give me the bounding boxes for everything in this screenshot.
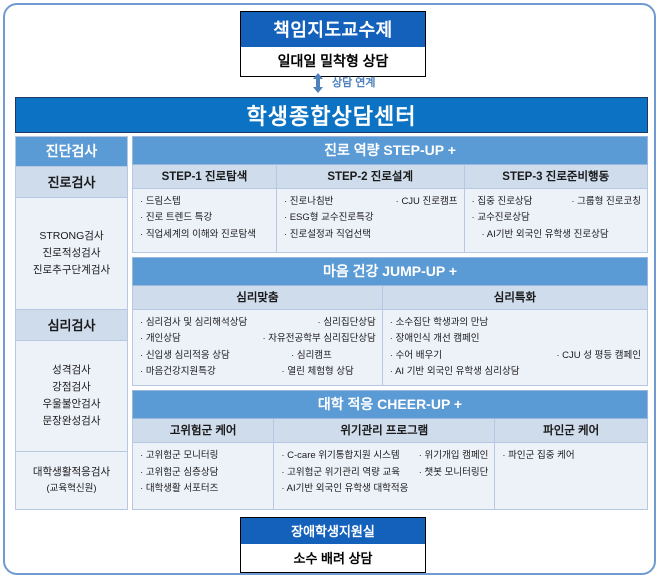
list-item-row: AI기반 외국인 유학생 대학적응 bbox=[281, 481, 488, 497]
column-items: C-care 위기통합지원 시스템위기개입 캠페인 고위험군 위기관리 역량 교… bbox=[274, 443, 494, 509]
column-items: 심리검사 및 심리해석상담심리집단상담 개인상담자유전공학부 심리집단상담 신입… bbox=[133, 310, 382, 385]
column-items: 고위험군 모니터링 고위험군 심층상담 대학생활 서포터즈 bbox=[133, 443, 273, 509]
column-header: 위기관리 프로그램 bbox=[274, 419, 494, 443]
block-title-step-up: 진로 역량 STEP-UP + bbox=[132, 136, 648, 165]
list-item: 개인상담 bbox=[140, 331, 181, 347]
list-item: 드림스텝 bbox=[140, 194, 181, 210]
list-item-note: (교육혁신원) bbox=[46, 481, 96, 496]
list-item: 신입생 심리적응 상담 bbox=[140, 348, 230, 364]
list-item: 대학생활 서포터즈 bbox=[140, 481, 218, 497]
bottom-box-header: 장애학생지원실 bbox=[241, 518, 425, 544]
list-item: 위기개입 캠페인 bbox=[411, 448, 489, 464]
right-column-programs: 진로 역량 STEP-UP + STEP-1 진로탐색 드림스텝 진로 트렌드 … bbox=[132, 136, 648, 510]
list-item-row: AI 기반 외국인 유학생 심리상담 bbox=[390, 364, 641, 380]
list-item-row: C-care 위기통합지원 시스템위기개입 캠페인 bbox=[281, 448, 488, 464]
connector-label: 상담 연계 bbox=[332, 74, 376, 90]
left-group-title-career: 진로검사 bbox=[15, 167, 128, 198]
block-cheer-up: 대학 적응 CHEER-UP + 고위험군 케어 고위험군 모니터링 고위험군 … bbox=[132, 390, 648, 510]
center-title: 학생종합상담센터 bbox=[15, 97, 648, 133]
list-item: 교수진로상담 bbox=[472, 210, 530, 226]
top-box-responsible-professor: 책임지도교수제 일대일 밀착형 상담 bbox=[240, 11, 426, 77]
list-item: 대학생활적응검사 bbox=[33, 464, 110, 481]
list-item-row: 진로나침반CJU 진로캠프 bbox=[284, 194, 458, 210]
list-item: 성격검사 bbox=[52, 362, 91, 379]
bottom-box-disability-support: 장애학생지원실 소수 배려 상담 bbox=[240, 517, 426, 573]
list-item: C-care 위기통합지원 시스템 bbox=[281, 448, 399, 464]
bottom-box-body: 소수 배려 상담 bbox=[241, 544, 425, 572]
block-columns-step-up: STEP-1 진로탐색 드림스텝 진로 트렌드 특강 직업세계의 이해와 진로탐… bbox=[132, 165, 648, 253]
column-step-2: STEP-2 진로설계 진로나침반CJU 진로캠프 ESG형 교수진로특강 진로… bbox=[277, 165, 465, 252]
list-item: 고위험군 모니터링 bbox=[140, 448, 218, 464]
block-jump-up: 마음 건강 JUMP-UP + 심리맞춤 심리검사 및 심리해석상담심리집단상담… bbox=[132, 257, 648, 386]
list-item: AI기반 외국인 유학생 대학적응 bbox=[281, 481, 408, 497]
block-columns-cheer-up: 고위험군 케어 고위험군 모니터링 고위험군 심층상담 대학생활 서포터즈 위기… bbox=[132, 419, 648, 510]
connector-group: 상담 연계 bbox=[240, 72, 426, 94]
column-psych-special: 심리특화 소수집단 학생과의 만남 장애인식 개선 캠페인 수어 배우기CJU … bbox=[383, 286, 647, 385]
column-header: STEP-2 진로설계 bbox=[277, 165, 464, 189]
column-header: 심리맞춤 bbox=[133, 286, 382, 310]
column-crisis-management: 위기관리 프로그램 C-care 위기통합지원 시스템위기개입 캠페인 고위험군… bbox=[274, 419, 495, 509]
column-items: 집중 진로상담그룹형 진로코칭 교수진로상담 AI기반 외국인 유학생 진로상담 bbox=[465, 189, 647, 252]
list-item: 소수집단 학생과의 만남 bbox=[390, 315, 489, 331]
list-item: AI 기반 외국인 유학생 심리상담 bbox=[390, 364, 520, 380]
column-header: 심리특화 bbox=[383, 286, 647, 310]
left-footer-items: 대학생활적응검사 (교육혁신원) bbox=[15, 452, 128, 510]
column-items: 파인군 집중 케어 bbox=[495, 443, 647, 509]
block-title-cheer-up: 대학 적응 CHEER-UP + bbox=[132, 390, 648, 419]
list-item: 진로나침반 bbox=[284, 194, 334, 210]
list-item-row: 장애인식 개선 캠페인 bbox=[390, 331, 641, 347]
list-item-row: 소수집단 학생과의 만남 bbox=[390, 315, 641, 331]
list-item: 심리검사 및 심리해석상담 bbox=[140, 315, 247, 331]
list-item-row: 교수진로상담 bbox=[472, 210, 641, 226]
list-item: 진로설정과 직업선택 bbox=[284, 227, 371, 243]
list-item: 마음건강지원특강 bbox=[140, 364, 216, 380]
left-group-items-career: STRONG검사 진로적성검사 진로추구단계검사 bbox=[15, 198, 128, 310]
double-arrow-vertical-icon bbox=[312, 73, 324, 93]
left-group-items-psych: 성격검사 강점검사 우울불안검사 문장완성검사 bbox=[15, 341, 128, 453]
column-items: 소수집단 학생과의 만남 장애인식 개선 캠페인 수어 배우기CJU 성 평등 … bbox=[383, 310, 647, 385]
list-item-row: ESG형 교수진로특강 bbox=[284, 210, 458, 226]
column-header: STEP-3 진로준비행동 bbox=[465, 165, 647, 189]
list-item: 우울불안검사 bbox=[43, 396, 101, 413]
list-item: 장애인식 개선 캠페인 bbox=[390, 331, 480, 347]
list-item-row: 직업세계의 이해와 진로탐색 bbox=[140, 227, 270, 243]
list-item: CJU 성 평등 캠페인 bbox=[548, 348, 641, 364]
list-item-row: 고위험군 모니터링 bbox=[140, 448, 267, 464]
list-item-row: 집중 진로상담그룹형 진로코칭 bbox=[472, 194, 641, 210]
list-item-row: 파인군 집중 케어 bbox=[502, 448, 641, 464]
block-columns-jump-up: 심리맞춤 심리검사 및 심리해석상담심리집단상담 개인상담자유전공학부 심리집단… bbox=[132, 286, 648, 386]
list-item-row: 개인상담자유전공학부 심리집단상담 bbox=[140, 331, 376, 347]
column-step-3: STEP-3 진로준비행동 집중 진로상담그룹형 진로코칭 교수진로상담 AI기… bbox=[465, 165, 647, 252]
list-item: 진로추구단계검사 bbox=[33, 262, 110, 279]
list-item: CJU 진로캠프 bbox=[388, 194, 458, 210]
list-item: 열린 체험형 상담 bbox=[274, 364, 376, 380]
list-item: 자유전공학부 심리집단상담 bbox=[254, 331, 375, 347]
list-item: 심리집단상담 bbox=[310, 315, 376, 331]
list-item-row: 신입생 심리적응 상담심리캠프 bbox=[140, 348, 376, 364]
column-high-risk-care: 고위험군 케어 고위험군 모니터링 고위험군 심층상담 대학생활 서포터즈 bbox=[133, 419, 274, 509]
list-item-row: 심리검사 및 심리해석상담심리집단상담 bbox=[140, 315, 376, 331]
left-column-diagnostic-tests: 진단검사 진로검사 STRONG검사 진로적성검사 진로추구단계검사 심리검사 … bbox=[15, 136, 128, 510]
list-item: STRONG검사 bbox=[39, 228, 103, 245]
list-item-row: 대학생활 서포터즈 bbox=[140, 481, 267, 497]
left-column-header: 진단검사 bbox=[15, 136, 128, 167]
main-body: 진단검사 진로검사 STRONG검사 진로적성검사 진로추구단계검사 심리검사 … bbox=[15, 136, 648, 510]
list-item: 그룹형 진로코칭 bbox=[563, 194, 641, 210]
list-item-row: 진로설정과 직업선택 bbox=[284, 227, 458, 243]
list-item: 직업세계의 이해와 진로탐색 bbox=[140, 227, 256, 243]
list-item: 수어 배우기 bbox=[390, 348, 442, 364]
list-item: 집중 진로상담 bbox=[472, 194, 533, 210]
column-header: 고위험군 케어 bbox=[133, 419, 273, 443]
list-item: 챗봇 모니터링단 bbox=[411, 465, 489, 481]
list-item-row: 고위험군 심층상담 bbox=[140, 465, 267, 481]
list-item: 진로 트렌드 특강 bbox=[140, 210, 212, 226]
column-step-1: STEP-1 진로탐색 드림스텝 진로 트렌드 특강 직업세계의 이해와 진로탐… bbox=[133, 165, 277, 252]
list-item-row: 고위험군 위기관리 역량 교육챗봇 모니터링단 bbox=[281, 465, 488, 481]
list-item: 강점검사 bbox=[52, 379, 91, 396]
list-item-row: 수어 배우기CJU 성 평등 캠페인 bbox=[390, 348, 641, 364]
column-items: 진로나침반CJU 진로캠프 ESG형 교수진로특강 진로설정과 직업선택 bbox=[277, 189, 464, 252]
list-item: 고위험군 위기관리 역량 교육 bbox=[281, 465, 400, 481]
column-header: 파인군 케어 bbox=[495, 419, 647, 443]
column-pine-care: 파인군 케어 파인군 집중 케어 bbox=[495, 419, 647, 509]
list-item-row: AI기반 외국인 유학생 진로상담 bbox=[472, 227, 641, 243]
list-item: 진로적성검사 bbox=[43, 245, 101, 262]
top-box-header: 책임지도교수제 bbox=[241, 12, 425, 47]
list-item: AI기반 외국인 유학생 진로상담 bbox=[472, 227, 609, 243]
list-item: 파인군 집중 케어 bbox=[502, 448, 574, 464]
column-items: 드림스텝 진로 트렌드 특강 직업세계의 이해와 진로탐색 bbox=[133, 189, 276, 252]
list-item-row: 마음건강지원특강열린 체험형 상담 bbox=[140, 364, 376, 380]
column-header: STEP-1 진로탐색 bbox=[133, 165, 276, 189]
block-step-up: 진로 역량 STEP-UP + STEP-1 진로탐색 드림스텝 진로 트렌드 … bbox=[132, 136, 648, 253]
list-item-row: 진로 트렌드 특강 bbox=[140, 210, 270, 226]
column-psych-custom: 심리맞춤 심리검사 및 심리해석상담심리집단상담 개인상담자유전공학부 심리집단… bbox=[133, 286, 383, 385]
list-item: 문장완성검사 bbox=[43, 413, 101, 430]
list-item: 심리캠프 bbox=[283, 348, 376, 364]
list-item: ESG형 교수진로특강 bbox=[284, 210, 374, 226]
block-title-jump-up: 마음 건강 JUMP-UP + bbox=[132, 257, 648, 286]
list-item-row: 드림스텝 bbox=[140, 194, 270, 210]
list-item: 고위험군 심층상담 bbox=[140, 465, 218, 481]
left-group-title-psych: 심리검사 bbox=[15, 310, 128, 341]
